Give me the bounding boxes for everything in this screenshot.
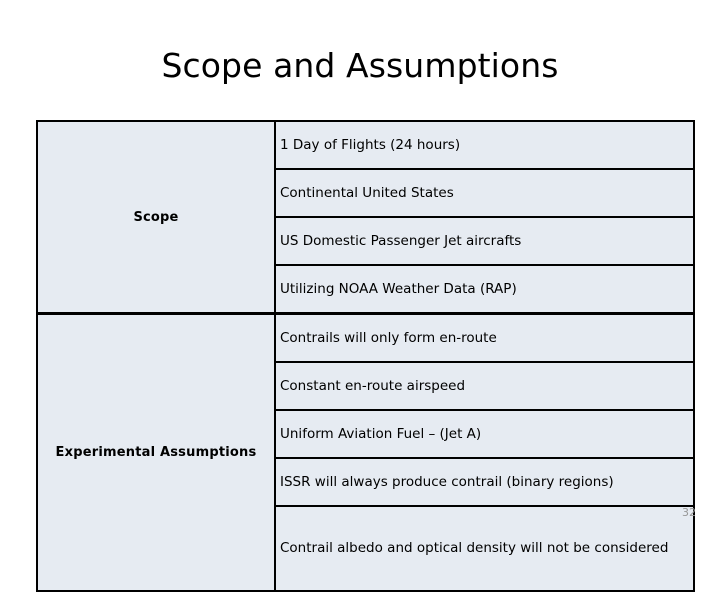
page-number: 32 bbox=[682, 506, 696, 520]
table-row: Scope 1 Day of Flights (24 hours) bbox=[37, 121, 694, 169]
section-label-experimental-assumptions: Experimental Assumptions bbox=[37, 314, 275, 592]
page-title: Scope and Assumptions bbox=[0, 46, 720, 86]
list-item: Utilizing NOAA Weather Data (RAP) bbox=[275, 265, 694, 314]
list-item: ISSR will always produce contrail (binar… bbox=[275, 458, 694, 506]
list-item: Continental United States bbox=[275, 169, 694, 217]
table-row: Experimental Assumptions Contrails will … bbox=[37, 314, 694, 363]
list-item: Uniform Aviation Fuel – (Jet A) bbox=[275, 410, 694, 458]
list-item: Contrail albedo and optical density will… bbox=[275, 506, 694, 591]
slide-canvas: Scope and Assumptions Scope 1 Day of Fli… bbox=[0, 0, 720, 540]
list-item: Constant en-route airspeed bbox=[275, 362, 694, 410]
list-item: 1 Day of Flights (24 hours) bbox=[275, 121, 694, 169]
list-item: US Domestic Passenger Jet aircrafts bbox=[275, 217, 694, 265]
scope-assumptions-table: Scope 1 Day of Flights (24 hours) Contin… bbox=[36, 120, 695, 592]
section-label-scope: Scope bbox=[37, 121, 275, 314]
list-item: Contrails will only form en-route bbox=[275, 314, 694, 363]
